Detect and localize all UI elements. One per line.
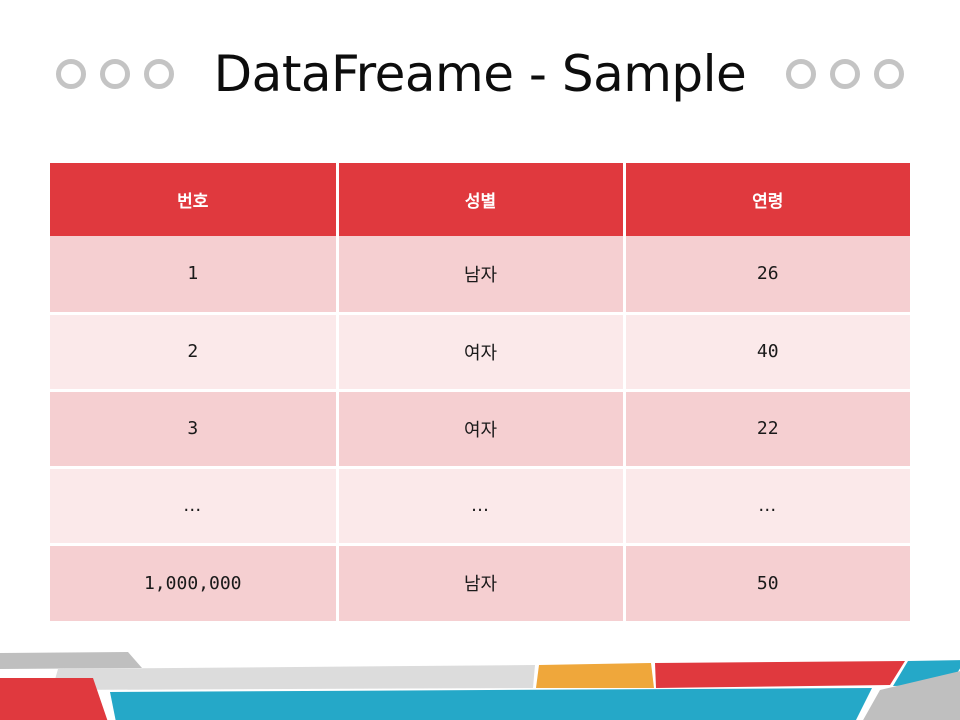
cell-number: 2 xyxy=(50,313,337,390)
footer-shapes xyxy=(0,630,960,720)
circle-ring-icon xyxy=(830,59,860,89)
footer-shape-red-band xyxy=(655,661,905,688)
table-body: 1 남자 26 2 여자 40 3 여자 22 … … … 1,000,000 xyxy=(50,236,910,621)
table-row: 3 여자 22 xyxy=(50,390,910,467)
cell-number: 1,000,000 xyxy=(50,544,337,621)
cell-age: 22 xyxy=(624,390,910,467)
cell-number: 3 xyxy=(50,390,337,467)
column-header-age: 연령 xyxy=(624,163,910,236)
footer-shape-gray-dark-left xyxy=(0,652,142,669)
cell-age: … xyxy=(624,467,910,544)
circle-ring-icon xyxy=(100,59,130,89)
decor-rings-left xyxy=(56,59,174,89)
circle-ring-icon xyxy=(144,59,174,89)
footer-shape-gray-light-band xyxy=(52,665,535,690)
cell-age: 40 xyxy=(624,313,910,390)
table-header: 번호 성별 연령 xyxy=(50,163,910,236)
cell-gender: 남자 xyxy=(337,544,624,621)
footer-shape-teal-main xyxy=(110,688,872,720)
cell-age: 50 xyxy=(624,544,910,621)
title-bar: DataFreame - Sample xyxy=(0,36,960,112)
cell-number: 1 xyxy=(50,236,337,313)
table-row-ellipsis: … … … xyxy=(50,467,910,544)
cell-number: … xyxy=(50,467,337,544)
footer-shape-red-left xyxy=(0,678,108,720)
decor-rings-right xyxy=(786,59,904,89)
circle-ring-icon xyxy=(56,59,86,89)
cell-gender: 남자 xyxy=(337,236,624,313)
table-row: 2 여자 40 xyxy=(50,313,910,390)
footer-decoration xyxy=(0,630,960,720)
cell-gender: 여자 xyxy=(337,313,624,390)
page-title: DataFreame - Sample xyxy=(214,49,747,99)
column-header-gender: 성별 xyxy=(337,163,624,236)
circle-ring-icon xyxy=(786,59,816,89)
circle-ring-icon xyxy=(874,59,904,89)
table-header-row: 번호 성별 연령 xyxy=(50,163,910,236)
column-header-number: 번호 xyxy=(50,163,337,236)
table-row: 1 남자 26 xyxy=(50,236,910,313)
dataframe-sample-table: 번호 성별 연령 1 남자 26 2 여자 40 3 여자 22 … xyxy=(50,163,910,621)
footer-shape-orange xyxy=(536,663,654,688)
cell-gender: … xyxy=(337,467,624,544)
cell-age: 26 xyxy=(624,236,910,313)
table-row: 1,000,000 남자 50 xyxy=(50,544,910,621)
slide-canvas: DataFreame - Sample 번호 성별 연령 1 남자 26 xyxy=(0,0,960,720)
cell-gender: 여자 xyxy=(337,390,624,467)
